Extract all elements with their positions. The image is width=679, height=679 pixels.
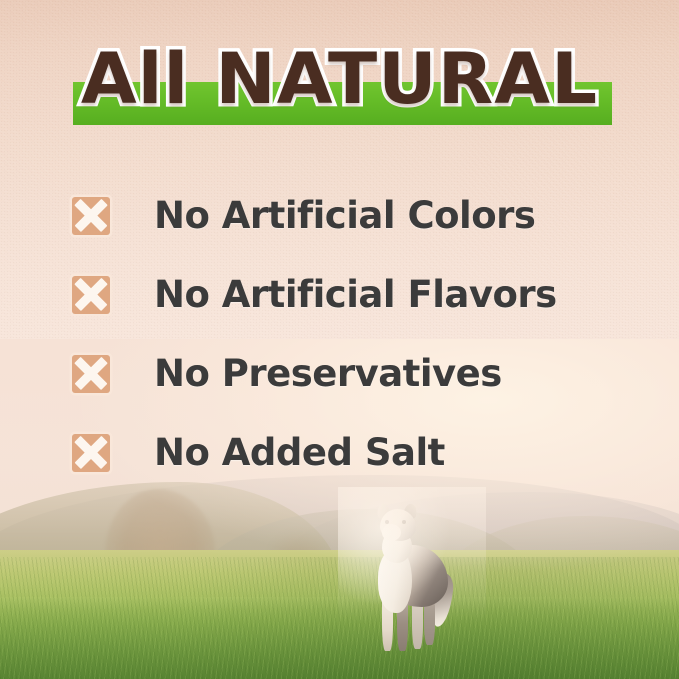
product-feature-poster: All NATURAL No Artificial Colors No Arti… xyxy=(0,0,679,679)
feature-label: No Preservatives xyxy=(154,354,502,394)
x-mark-icon xyxy=(72,355,110,393)
list-item: No Artificial Flavors xyxy=(72,255,632,334)
list-item: No Artificial Colors xyxy=(72,176,632,255)
feature-label: No Artificial Colors xyxy=(154,196,535,236)
page-title: All NATURAL xyxy=(0,44,679,114)
list-item: No Added Salt xyxy=(72,413,632,492)
x-mark-icon xyxy=(72,197,110,235)
feature-label: No Artificial Flavors xyxy=(154,275,557,315)
x-mark-icon xyxy=(72,434,110,472)
feature-list: No Artificial Colors No Artificial Flavo… xyxy=(72,176,632,492)
x-mark-icon xyxy=(72,276,110,314)
list-item: No Preservatives xyxy=(72,334,632,413)
feature-label: No Added Salt xyxy=(154,433,445,473)
